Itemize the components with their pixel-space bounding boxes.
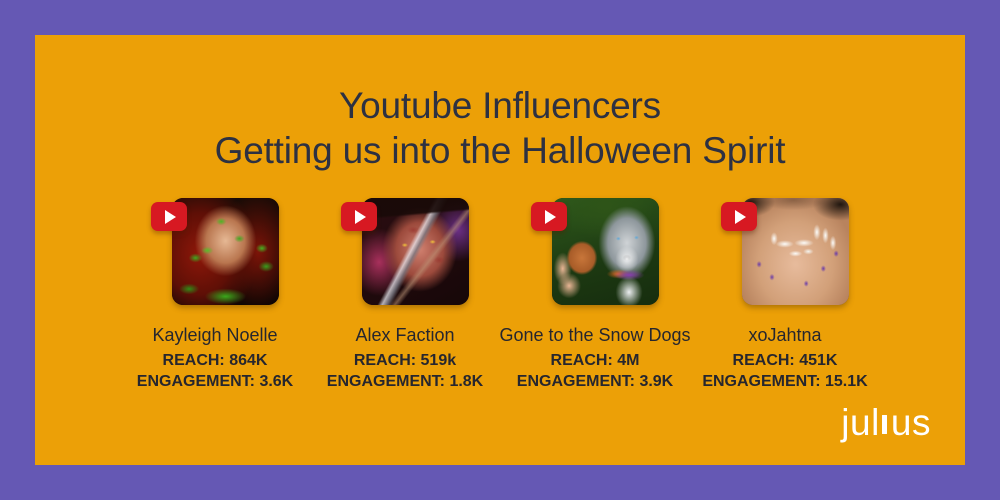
thumbnail-wrap[interactable] — [341, 198, 469, 310]
logo-text-part1: jul — [841, 402, 880, 443]
logo-text-part2: us — [891, 402, 931, 443]
thumbnail-artwork — [552, 198, 659, 305]
graphic-canvas: Youtube Influencers Getting us into the … — [0, 0, 1000, 500]
thumbnail-wrap[interactable] — [151, 198, 279, 310]
play-triangle-icon — [165, 210, 176, 224]
youtube-play-icon[interactable] — [341, 202, 377, 231]
influencer-card[interactable]: xoJahtna REACH: 451K ENGAGEMENT: 15.1K — [690, 198, 880, 392]
thumbnail-artwork — [172, 198, 279, 305]
video-thumbnail[interactable] — [362, 198, 469, 305]
influencer-card[interactable]: Alex Faction REACH: 519k ENGAGEMENT: 1.8… — [310, 198, 500, 392]
thumbnail-artwork — [362, 198, 469, 305]
play-triangle-icon — [735, 210, 746, 224]
engagement-stat: ENGAGEMENT: 1.8K — [327, 371, 483, 392]
thumbnail-wrap[interactable] — [721, 198, 849, 310]
reach-stat: REACH: 519k — [354, 350, 456, 371]
title-line-1: Youtube Influencers — [35, 83, 965, 128]
play-triangle-icon — [545, 210, 556, 224]
content-panel: Youtube Influencers Getting us into the … — [35, 35, 965, 465]
thumbnail-artwork — [742, 198, 849, 305]
influencer-card[interactable]: Kayleigh Noelle REACH: 864K ENGAGEMENT: … — [120, 198, 310, 392]
title-line-2: Getting us into the Halloween Spirit — [35, 128, 965, 173]
page-title: Youtube Influencers Getting us into the … — [35, 83, 965, 173]
reach-stat: REACH: 451K — [733, 350, 838, 371]
influencer-name: Kayleigh Noelle — [152, 324, 277, 346]
influencer-name: xoJahtna — [748, 324, 821, 346]
influencer-card[interactable]: Gone to the Snow Dogs REACH: 4M ENGAGEME… — [500, 198, 690, 392]
play-triangle-icon — [355, 210, 366, 224]
youtube-play-icon[interactable] — [151, 202, 187, 231]
engagement-stat: ENGAGEMENT: 15.1K — [702, 371, 867, 392]
influencer-name: Alex Faction — [355, 324, 454, 346]
youtube-play-icon[interactable] — [721, 202, 757, 231]
influencer-name: Gone to the Snow Dogs — [499, 324, 690, 346]
julius-logo: julus — [841, 403, 931, 443]
engagement-stat: ENGAGEMENT: 3.9K — [517, 371, 673, 392]
engagement-stat: ENGAGEMENT: 3.6K — [137, 371, 293, 392]
reach-stat: REACH: 864K — [163, 350, 268, 371]
video-thumbnail[interactable] — [172, 198, 279, 305]
youtube-play-icon[interactable] — [531, 202, 567, 231]
video-thumbnail[interactable] — [742, 198, 849, 305]
influencer-card-row: Kayleigh Noelle REACH: 864K ENGAGEMENT: … — [35, 198, 965, 392]
reach-stat: REACH: 4M — [551, 350, 640, 371]
video-thumbnail[interactable] — [552, 198, 659, 305]
thumbnail-wrap[interactable] — [531, 198, 659, 310]
